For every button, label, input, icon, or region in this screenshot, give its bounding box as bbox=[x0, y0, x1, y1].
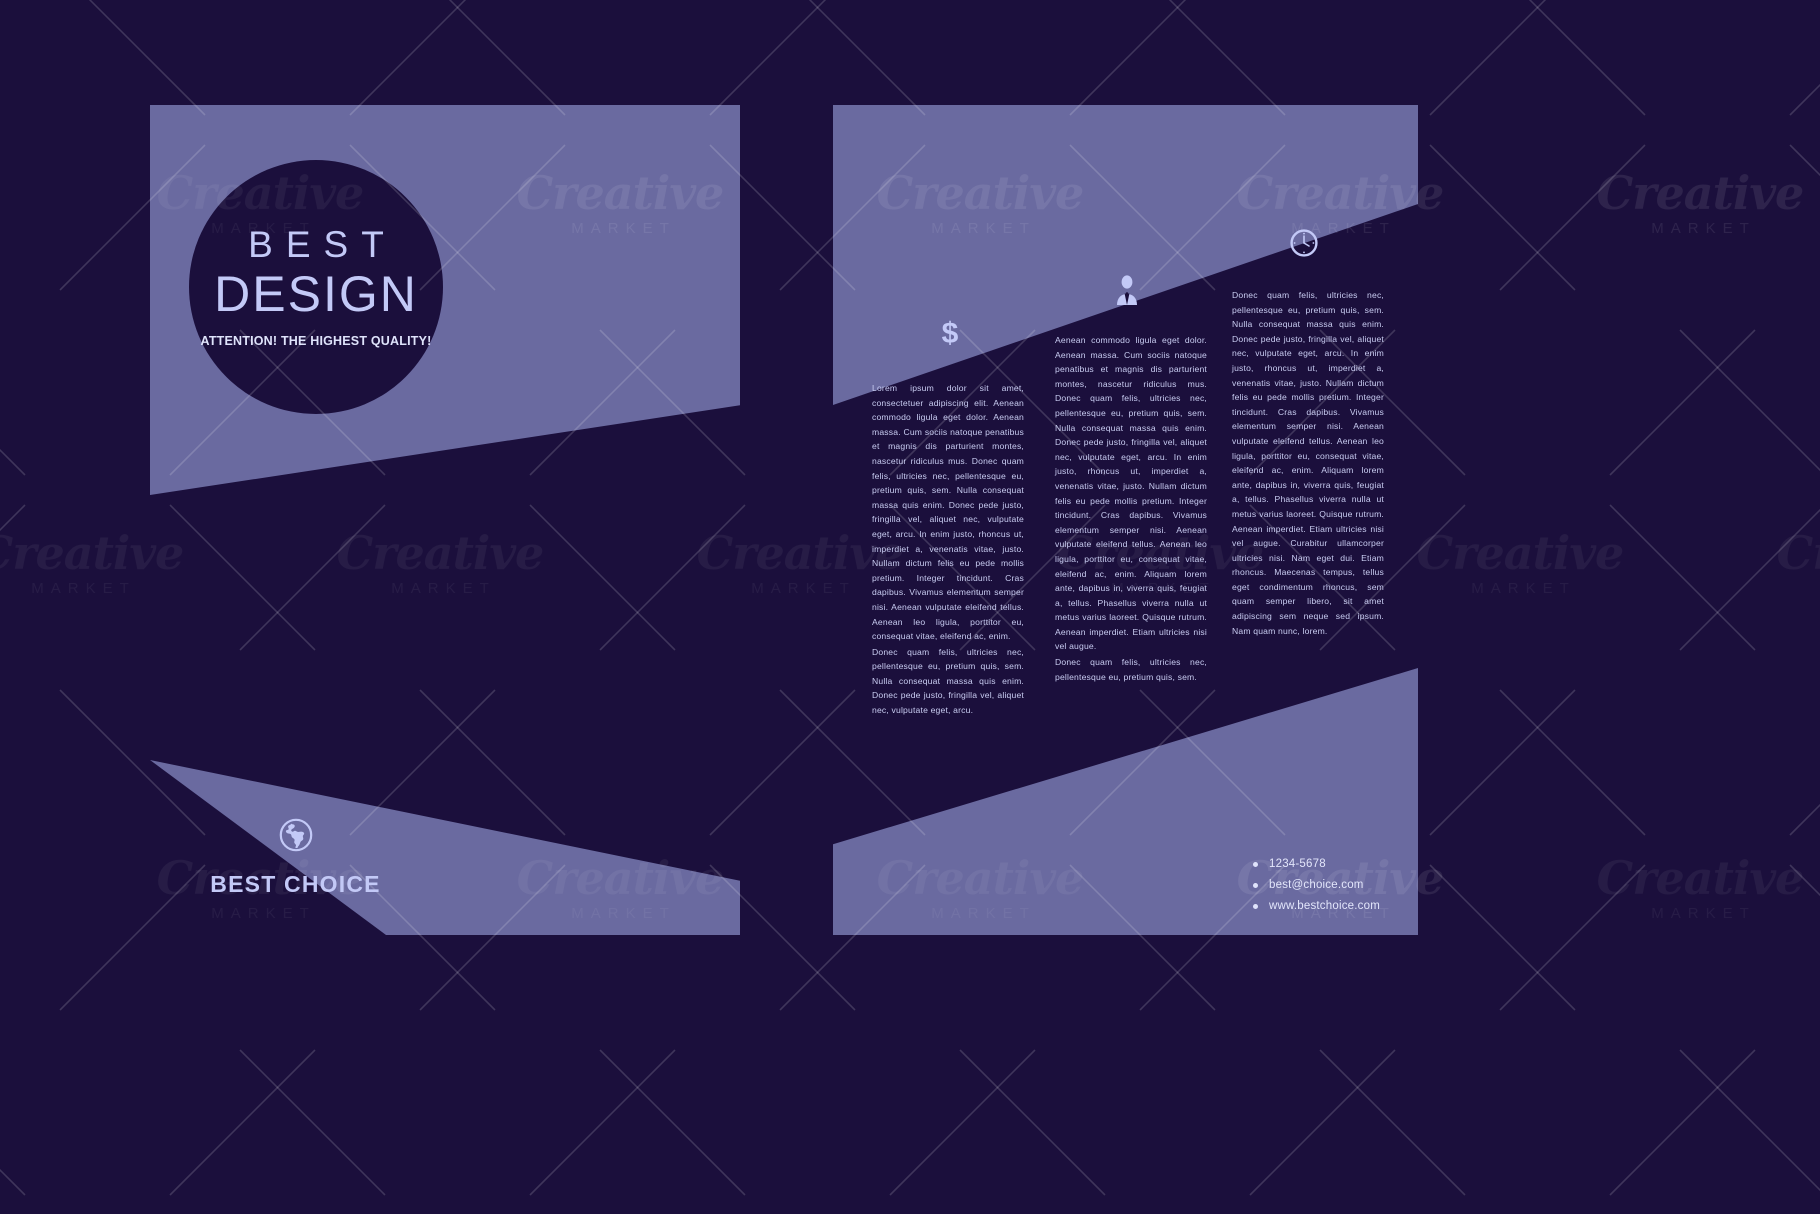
bullet-icon bbox=[1253, 862, 1258, 867]
badge-tagline: ATTENTION! THE HIGHEST QUALITY! bbox=[201, 335, 432, 348]
contact-website: www.bestchoice.com bbox=[1253, 896, 1380, 917]
watermark: Creative MARKET bbox=[0, 530, 225, 596]
body-text-column-3: Donec quam felis, ultricies nec, pellent… bbox=[1232, 288, 1384, 639]
watermark-sub: MARKET bbox=[1555, 221, 1820, 236]
badge-title-line2: DESIGN bbox=[214, 269, 418, 319]
body-text-column-2: Aenean commodo ligula eget dolor. Aenean… bbox=[1055, 333, 1207, 685]
watermark-sub: MARKET bbox=[1375, 581, 1665, 596]
bullet-icon bbox=[1253, 904, 1258, 909]
contact-email: best@choice.com bbox=[1253, 875, 1380, 896]
design-mockup-canvas: BEST DESIGN ATTENTION! THE HIGHEST QUALI… bbox=[0, 0, 1820, 1214]
watermark-script: Creative bbox=[1375, 530, 1665, 576]
watermark: Creative MARKET bbox=[295, 530, 585, 596]
body-text-column-1: Lorem ipsum dolor sit amet, consectetuer… bbox=[872, 381, 1024, 719]
contact-list: 1234-5678 best@choice.com www.bestchoice… bbox=[1253, 854, 1380, 917]
best-design-badge: BEST DESIGN ATTENTION! THE HIGHEST QUALI… bbox=[189, 160, 443, 414]
watermark-sub: MARKET bbox=[1555, 906, 1820, 921]
watermark-script: Creative bbox=[0, 530, 225, 576]
paragraph: Lorem ipsum dolor sit amet, consectetuer… bbox=[872, 381, 1024, 644]
paragraph: Donec quam felis, ultricies nec, pellent… bbox=[1232, 288, 1384, 638]
paragraph: Aenean commodo ligula eget dolor. Aenean… bbox=[1055, 333, 1207, 654]
watermark-script: Creative bbox=[1555, 855, 1820, 901]
watermark-sub: MARKET bbox=[295, 581, 585, 596]
best-choice-label: BEST CHOICE bbox=[183, 871, 408, 898]
watermark: Creative MARKET bbox=[1555, 855, 1820, 921]
contact-value: best@choice.com bbox=[1269, 879, 1364, 891]
watermark: Creative MARKET bbox=[1555, 170, 1820, 236]
watermark-script: Creative bbox=[1555, 170, 1820, 216]
dollar-icon: $ bbox=[938, 316, 962, 355]
watermark: Creative MARKET bbox=[1735, 530, 1820, 596]
globe-icon bbox=[183, 818, 408, 857]
watermark-sub: MARKET bbox=[1735, 581, 1820, 596]
contact-value: 1234-5678 bbox=[1269, 858, 1326, 870]
clock-icon bbox=[1290, 229, 1318, 262]
paragraph: Donec quam felis, ultricies nec, pellent… bbox=[1055, 655, 1207, 684]
badge-title-line1: BEST bbox=[235, 226, 397, 263]
watermark: Creative MARKET bbox=[1375, 530, 1665, 596]
watermark-script: Creative bbox=[1735, 530, 1820, 576]
contact-phone: 1234-5678 bbox=[1253, 854, 1380, 875]
paragraph: Donec quam felis, ultricies nec, pellent… bbox=[872, 645, 1024, 718]
bullet-icon bbox=[1253, 883, 1258, 888]
contact-value: www.bestchoice.com bbox=[1269, 900, 1380, 912]
person-businessman-icon bbox=[1113, 274, 1141, 313]
best-choice-footer: BEST CHOICE bbox=[183, 818, 408, 898]
watermark-sub: MARKET bbox=[0, 581, 225, 596]
watermark-script: Creative bbox=[295, 530, 585, 576]
svg-text:$: $ bbox=[942, 317, 959, 350]
